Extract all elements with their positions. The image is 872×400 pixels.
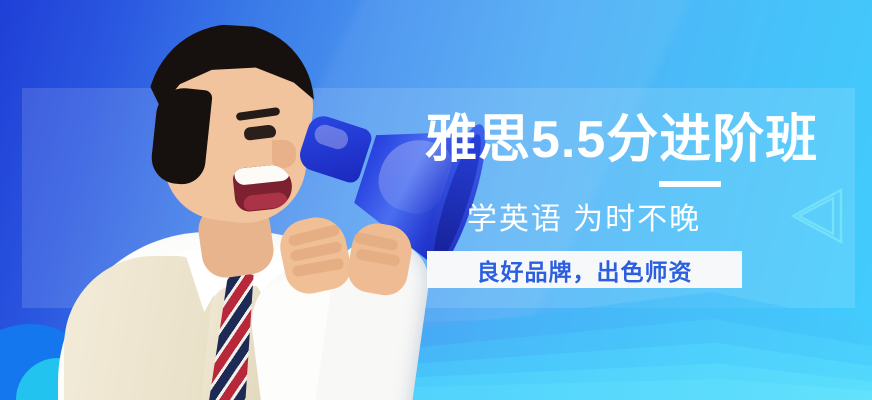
headline: 雅思5.5分进阶班 bbox=[425, 110, 818, 170]
tagline-text: 良好品牌，出色师资 bbox=[477, 253, 693, 287]
divider-rule bbox=[659, 181, 721, 187]
course-promo-banner: 雅思5.5分进阶班 学英语 为时不晚 良好品牌，出色师资 bbox=[0, 0, 872, 400]
person-photo bbox=[58, 18, 418, 400]
sweater-vest-left bbox=[64, 256, 214, 400]
play-triangle-outline-icon bbox=[783, 186, 845, 248]
subheadline: 学英语 为时不晚 bbox=[425, 200, 743, 240]
tagline-box: 良好品牌，出色师资 bbox=[427, 251, 742, 288]
